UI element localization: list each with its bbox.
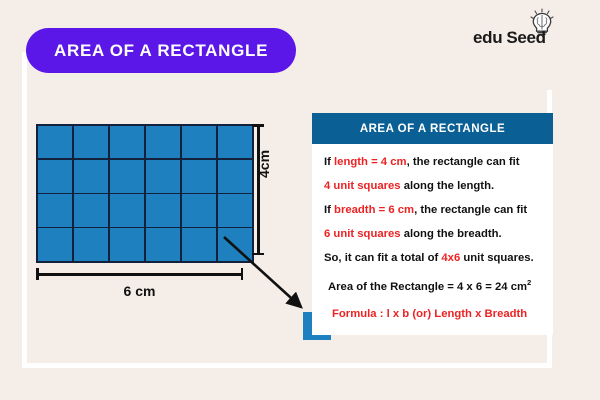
plain-text: If <box>324 204 334 216</box>
unit-square <box>74 126 109 159</box>
info-panel-header: AREA OF A RECTANGLE <box>312 113 553 144</box>
formula-line: Formula : l x b (or) Length x Breadth <box>324 307 541 322</box>
highlighted-term: 4 unit squares <box>324 180 401 192</box>
info-panel-body: If length = 4 cm, the rectangle can fit4… <box>312 144 553 335</box>
unit-square <box>146 228 181 261</box>
plain-text: along the breadth. <box>401 228 502 240</box>
unit-square <box>146 126 181 159</box>
unit-square <box>38 126 73 159</box>
breadth-line: If breadth = 6 cm, the rectangle can fit <box>324 203 541 218</box>
highlighted-term: breadth = 6 cm <box>334 204 414 216</box>
logo-text-edu: edu <box>473 28 502 47</box>
length-line: If length = 4 cm, the rectangle can fit <box>324 155 541 170</box>
plain-text: So, it can fit a total of <box>324 252 441 264</box>
brand-logo: eduSeed <box>473 8 578 50</box>
plain-text: , the rectangle can fit <box>414 204 527 216</box>
unit-square <box>146 194 181 227</box>
plain-text: If <box>324 156 334 168</box>
page-title: AREA OF A RECTANGLE <box>54 41 268 61</box>
unit-square <box>182 126 217 159</box>
area-statement: Area of the Rectangle = 4 x 6 = 24 cm2 <box>324 278 541 295</box>
highlighted-term: 6 unit squares <box>324 228 401 240</box>
unit-square <box>182 160 217 193</box>
logo-text-seed: Seed <box>506 28 545 47</box>
height-label: 4cm <box>256 150 272 178</box>
breadth-line-2: 6 unit squares along the breadth. <box>324 227 541 242</box>
length-line-2: 4 unit squares along the length. <box>324 179 541 194</box>
infographic-canvas: AREA OF A RECTANGLE <box>0 0 600 400</box>
width-dimension-line <box>36 268 243 280</box>
unit-square <box>38 160 73 193</box>
highlighted-term: 4x6 <box>441 252 460 264</box>
width-label: 6 cm <box>36 283 243 299</box>
unit-square <box>146 160 181 193</box>
pointer-arrow-icon <box>215 228 325 323</box>
area-statement-text: Area of the Rectangle = 4 x 6 = 24 cm <box>328 281 527 293</box>
total-line: So, it can fit a total of 4x6 unit squar… <box>324 251 541 266</box>
unit-square <box>110 228 145 261</box>
unit-square <box>110 126 145 159</box>
unit-square <box>74 194 109 227</box>
unit-square <box>38 194 73 227</box>
info-panel: AREA OF A RECTANGLE If length = 4 cm, th… <box>312 113 553 335</box>
highlighted-term: length = 4 cm <box>334 156 407 168</box>
plain-text: along the length. <box>401 180 495 192</box>
plain-text: , the rectangle can fit <box>407 156 520 168</box>
unit-square <box>74 228 109 261</box>
unit-square <box>110 160 145 193</box>
width-dim-rule <box>36 273 243 276</box>
unit-square <box>218 126 253 159</box>
logo-wordmark: eduSeed <box>473 28 546 48</box>
unit-square <box>74 160 109 193</box>
unit-square <box>218 160 253 193</box>
unit-square <box>38 228 73 261</box>
plain-text: unit squares. <box>460 252 533 264</box>
unit-square <box>110 194 145 227</box>
unit-square <box>182 194 217 227</box>
area-superscript: 2 <box>527 278 531 287</box>
unit-square <box>182 228 217 261</box>
info-panel-title: AREA OF A RECTANGLE <box>360 123 505 135</box>
page-title-banner: AREA OF A RECTANGLE <box>26 28 296 73</box>
unit-square <box>218 194 253 227</box>
